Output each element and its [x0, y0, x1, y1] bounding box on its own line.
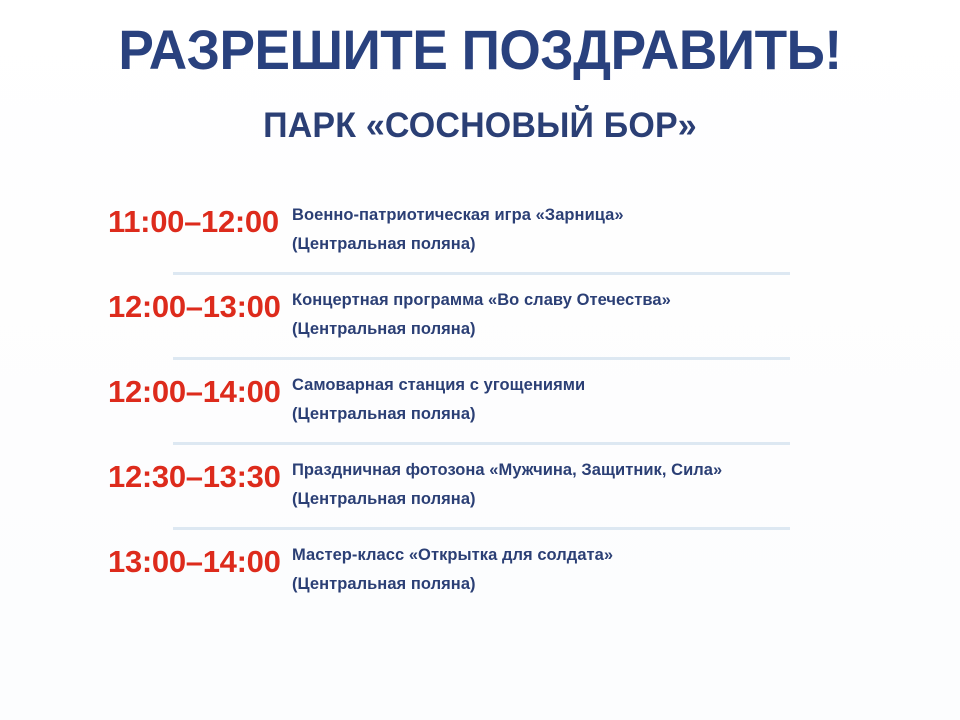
schedule-row-title: Военно-патриотическая игра «Зарница»: [292, 204, 930, 227]
schedule-row-title: Концертная программа «Во славу Отечества…: [292, 289, 930, 312]
schedule-row-time: 12:30–13:30: [0, 445, 292, 492]
page-title: РАЗРЕШИТЕ ПОЗДРАВИТЬ!: [24, 22, 936, 78]
poster-header: РАЗРЕШИТЕ ПОЗДРАВИТЬ! ПАРК «СОСНОВЫЙ БОР…: [0, 0, 960, 143]
schedule-row-description: Концертная программа «Во славу Отечества…: [292, 275, 960, 342]
schedule-row-description: Мастер-класс «Открытка для солдата» (Цен…: [292, 530, 960, 597]
schedule-row-description: Военно-патриотическая игра «Зарница» (Це…: [292, 190, 960, 257]
page-subtitle: ПАРК «СОСНОВЫЙ БОР»: [14, 78, 945, 143]
schedule-row-place: (Центральная поляна): [292, 567, 930, 596]
schedule-row-title: Самоварная станция с угощениями: [292, 374, 930, 397]
schedule-row-time: 11:00–12:00: [0, 190, 292, 237]
schedule-row: 11:00–12:00 Военно-патриотическая игра «…: [0, 190, 960, 275]
schedule-row-description: Праздничная фотозона «Мужчина, Защитник,…: [292, 445, 960, 512]
schedule-row-time: 13:00–14:00: [0, 530, 292, 577]
schedule-row-place: (Центральная поляна): [292, 397, 930, 426]
schedule-row-title: Мастер-класс «Открытка для солдата»: [292, 544, 930, 567]
schedule-row-place: (Центральная поляна): [292, 312, 930, 341]
poster-root: РАЗРЕШИТЕ ПОЗДРАВИТЬ! ПАРК «СОСНОВЫЙ БОР…: [0, 0, 960, 720]
schedule-row-time: 12:00–13:00: [0, 275, 292, 322]
schedule-row: 12:00–13:00 Концертная программа «Во сла…: [0, 275, 960, 360]
schedule-row: 12:30–13:30 Праздничная фотозона «Мужчин…: [0, 445, 960, 530]
schedule-row: 12:00–14:00 Самоварная станция с угощени…: [0, 360, 960, 445]
schedule-row: 13:00–14:00 Мастер-класс «Открытка для с…: [0, 530, 960, 615]
schedule-row-place: (Центральная поляна): [292, 482, 930, 511]
schedule-row-place: (Центральная поляна): [292, 227, 930, 256]
schedule-row-title: Праздничная фотозона «Мужчина, Защитник,…: [292, 459, 930, 482]
schedule-row-description: Самоварная станция с угощениями (Централ…: [292, 360, 960, 427]
schedule-list: 11:00–12:00 Военно-патриотическая игра «…: [0, 190, 960, 615]
schedule-row-time: 12:00–14:00: [0, 360, 292, 407]
